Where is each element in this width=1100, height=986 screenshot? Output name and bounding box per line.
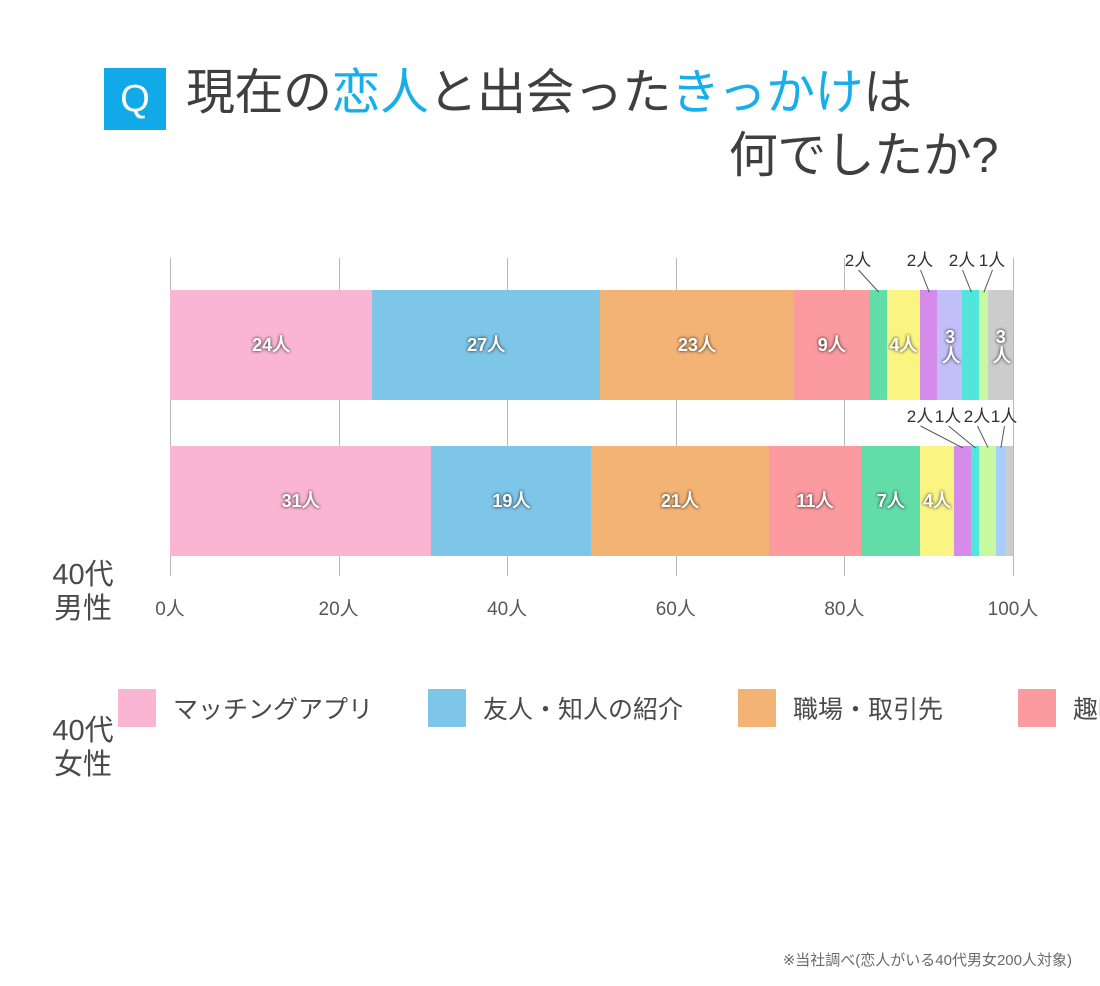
axis-label-male: 40代 男性 bbox=[18, 558, 148, 626]
bar-segment-female-hobby[interactable]: 11人 bbox=[769, 446, 862, 556]
bar-segment-label-female-hobby: 11人 bbox=[796, 492, 833, 511]
bar-segment-male-parttime[interactable]: 3人 bbox=[937, 290, 962, 400]
bar-segment-male-other[interactable]: 3人 bbox=[988, 290, 1013, 400]
callout-label-male-3: 1人 bbox=[979, 246, 1005, 271]
callout-label-male-2: 2人 bbox=[949, 246, 975, 271]
x-tick-label-40: 40人 bbox=[487, 594, 527, 621]
bar-segment-label-female-gokon: 4人 bbox=[923, 492, 951, 511]
axis-label-male-line2: 男性 bbox=[18, 592, 148, 626]
x-tick-label-20: 20人 bbox=[319, 594, 359, 621]
title-highlight-2: きっかけ bbox=[671, 66, 863, 120]
title-line-2: 何でしたか? bbox=[186, 125, 998, 188]
bar-segment-male-sns[interactable] bbox=[979, 290, 987, 400]
bar-segment-label-male-hobby: 9人 bbox=[818, 336, 846, 355]
bar-segment-male-gokon[interactable]: 4人 bbox=[887, 290, 921, 400]
callout-leader-male-2 bbox=[962, 270, 972, 292]
legend-item-friend-intro[interactable]: 友人・知人の紹介 bbox=[428, 689, 738, 727]
legend-swatch-workplace-icon bbox=[738, 689, 776, 727]
bar-segment-female-friend-intro[interactable]: 19人 bbox=[431, 446, 591, 556]
callout-leader-male-1 bbox=[920, 270, 930, 292]
page-title: Q 現在の恋人と出会ったきっかけは 何でしたか? bbox=[0, 62, 1100, 187]
legend-label-workplace: 職場・取引先 bbox=[793, 690, 943, 726]
bar-segment-label-male-friend-intro: 27人 bbox=[467, 336, 505, 355]
title-row: Q 現在の恋人と出会ったきっかけは 何でしたか? bbox=[0, 62, 1040, 187]
callout-label-female-1: 1人 bbox=[935, 402, 961, 427]
chart-page: Q 現在の恋人と出会ったきっかけは 何でしたか? 40代 男性 40代 女性 2… bbox=[0, 0, 1100, 986]
x-tick-label-0: 0人 bbox=[155, 594, 185, 621]
bar-segment-female-school[interactable]: 7人 bbox=[861, 446, 920, 556]
legend-swatch-matching-app-icon bbox=[118, 689, 156, 727]
title-part-mid: と出会った bbox=[429, 66, 672, 120]
bar-segment-female-sns[interactable] bbox=[979, 446, 996, 556]
callouts-male: 2人2人2人1人 bbox=[170, 246, 1013, 292]
bar-segment-female-other[interactable] bbox=[1005, 446, 1013, 556]
callouts-female: 2人1人2人1人 bbox=[170, 402, 1013, 448]
callout-leader-female-3 bbox=[1000, 426, 1005, 448]
callout-label-male-1: 2人 bbox=[907, 246, 933, 271]
bar-segment-label-male-workplace: 23人 bbox=[678, 336, 716, 355]
legend-item-hobby[interactable]: 趣味・習い事 bbox=[1018, 689, 1100, 727]
bar-segment-male-school[interactable] bbox=[870, 290, 887, 400]
callout-label-female-2: 2人 bbox=[964, 402, 990, 427]
bar-segment-label-male-gokon: 4人 bbox=[889, 336, 917, 355]
bar-segment-male-bar[interactable] bbox=[962, 290, 979, 400]
stacked-bar-chart: 40代 男性 40代 女性 24人27人23人9人4人3人3人 31人19人21… bbox=[0, 258, 1100, 648]
x-tick-label-80: 80人 bbox=[824, 594, 864, 621]
bar-segment-male-friend-intro[interactable]: 27人 bbox=[372, 290, 600, 400]
footnote: ※当社調べ(恋人がいる40代男女200人対象) bbox=[783, 949, 1072, 970]
title-line-1: 現在の恋人と出会ったきっかけは bbox=[186, 62, 998, 125]
stacked-bar-female: 31人19人21人11人7人4人 bbox=[170, 446, 1013, 556]
bar-segment-female-agency[interactable] bbox=[996, 446, 1004, 556]
legend-swatch-hobby-icon bbox=[1018, 689, 1056, 727]
chart-legend: マッチングアプリ友人・知人の紹介職場・取引先趣味・習い事学校合コン恋活・婚活イベ… bbox=[118, 678, 1018, 737]
callout-label-female-0: 2人 bbox=[907, 402, 933, 427]
bar-segment-male-event[interactable] bbox=[920, 290, 937, 400]
bar-segment-label-female-school: 7人 bbox=[877, 492, 905, 511]
title-part-pre: 現在の bbox=[186, 66, 332, 120]
bar-segment-female-workplace[interactable]: 21人 bbox=[591, 446, 768, 556]
legend-label-matching-app: マッチングアプリ bbox=[173, 690, 373, 726]
legend-item-matching-app[interactable]: マッチングアプリ bbox=[118, 689, 428, 727]
bar-segment-female-matching-app[interactable]: 31人 bbox=[170, 446, 431, 556]
question-badge: Q bbox=[104, 68, 166, 130]
legend-item-workplace[interactable]: 職場・取引先 bbox=[738, 689, 1018, 727]
bar-segment-male-workplace[interactable]: 23人 bbox=[600, 290, 794, 400]
legend-label-hobby: 趣味・習い事 bbox=[1073, 690, 1100, 726]
bar-segment-female-bar[interactable] bbox=[971, 446, 979, 556]
bar-row-male: 24人27人23人9人4人3人3人 bbox=[170, 290, 1013, 400]
x-axis-tick-labels: 0人20人40人60人80人100人 bbox=[170, 594, 1013, 624]
title-highlight-1: 恋人 bbox=[332, 66, 429, 120]
callout-label-male-0: 2人 bbox=[845, 246, 871, 271]
axis-label-male-line1: 40代 bbox=[18, 558, 148, 592]
callout-leader-female-1 bbox=[948, 426, 976, 449]
bar-segment-label-male-matching-app: 24人 bbox=[252, 336, 290, 355]
axis-label-female-line2: 女性 bbox=[18, 748, 148, 782]
x-tick-label-100: 100人 bbox=[988, 594, 1039, 621]
bar-segment-male-hobby[interactable]: 9人 bbox=[794, 290, 870, 400]
x-tick-label-60: 60人 bbox=[656, 594, 696, 621]
callout-leader-male-0 bbox=[858, 270, 879, 293]
bar-segment-label-female-workplace: 21人 bbox=[661, 492, 699, 511]
callout-leader-female-0 bbox=[920, 426, 963, 449]
bar-segment-label-female-matching-app: 31人 bbox=[282, 492, 320, 511]
title-part-post: は bbox=[863, 66, 912, 120]
callout-label-female-3: 1人 bbox=[991, 402, 1017, 427]
callout-leader-female-2 bbox=[977, 426, 989, 448]
bar-row-female: 31人19人21人11人7人4人 bbox=[170, 446, 1013, 556]
bar-segment-female-event[interactable] bbox=[954, 446, 971, 556]
legend-swatch-friend-intro-icon bbox=[428, 689, 466, 727]
bar-segment-male-matching-app[interactable]: 24人 bbox=[170, 290, 372, 400]
callout-leader-male-3 bbox=[984, 270, 993, 292]
stacked-bar-male: 24人27人23人9人4人3人3人 bbox=[170, 290, 1013, 400]
bar-segment-female-gokon[interactable]: 4人 bbox=[920, 446, 954, 556]
bar-segment-label-male-other: 3人 bbox=[991, 327, 1010, 363]
title-text: 現在の恋人と出会ったきっかけは 何でしたか? bbox=[186, 62, 998, 187]
legend-label-friend-intro: 友人・知人の紹介 bbox=[483, 690, 683, 726]
bar-segment-label-male-parttime: 3人 bbox=[940, 327, 959, 363]
bar-segment-label-female-friend-intro: 19人 bbox=[492, 492, 530, 511]
